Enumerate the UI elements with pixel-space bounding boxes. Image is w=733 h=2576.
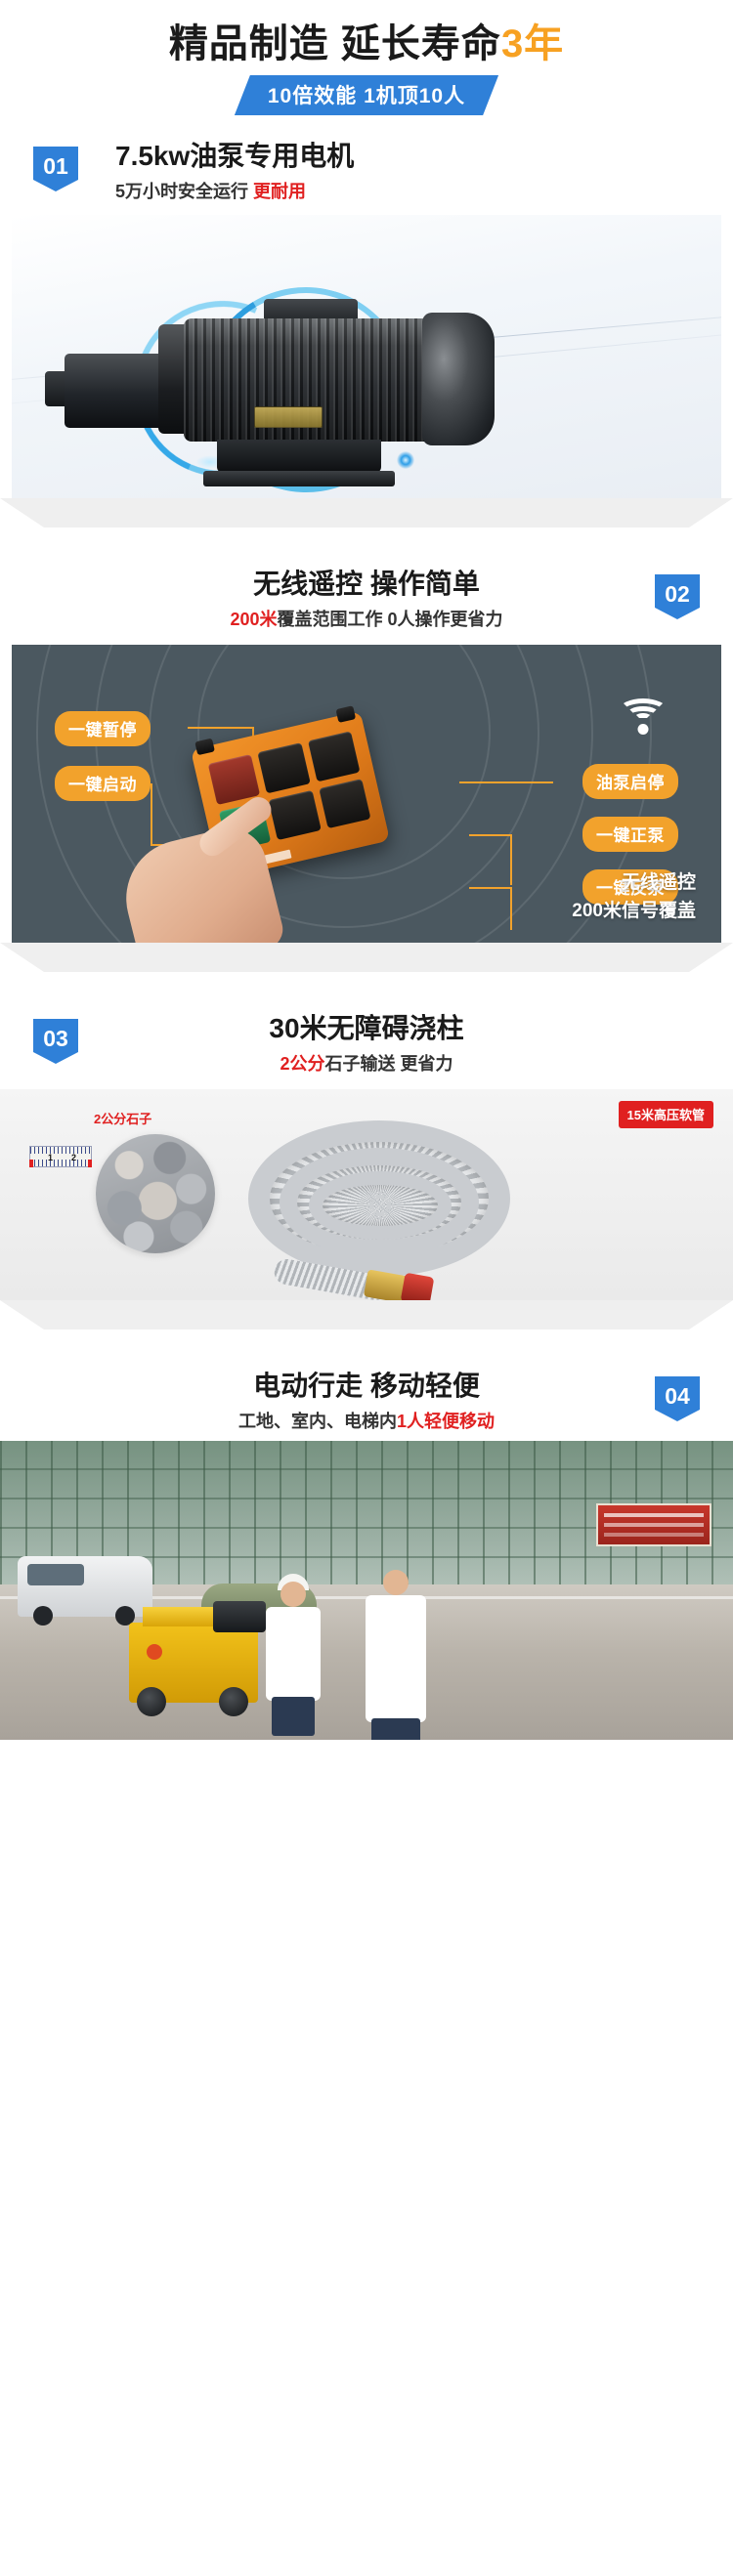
section-03-sub-red: 2公分	[280, 1054, 324, 1074]
ruler-icon: 1 2	[29, 1146, 92, 1167]
worker-standing	[366, 1595, 426, 1722]
callout-lead-4b	[510, 834, 512, 885]
section-01: 01 7.5kw油泵专用电机 5万小时安全运行 更耐用	[0, 125, 733, 528]
ruler-mark-2: 2	[71, 1153, 76, 1162]
callout-lead-3	[459, 781, 553, 783]
wedge-divider-01	[0, 498, 733, 528]
hose-gravel-photo: 2公分石子 15米高压软管 1 2	[0, 1089, 733, 1300]
section-01-head: 01 7.5kw油泵专用电机 5万小时安全运行 更耐用	[0, 125, 733, 211]
section-02-sub-red: 200米	[230, 610, 277, 629]
remote-key-aux-1[interactable]	[308, 731, 361, 781]
hero-banner: 10倍效能 1机顶10人	[235, 75, 498, 115]
screw-icon-left	[194, 739, 215, 756]
callout-lead-2a	[151, 783, 152, 846]
worker-head-1	[280, 1582, 306, 1607]
ruler-cap-right	[88, 1160, 92, 1167]
hero-header: 精品制造 延长寿命3年 10倍效能 1机顶10人	[0, 0, 733, 125]
construction-site-photo	[0, 1441, 733, 1740]
section-01-sub-plain: 5万小时安全运行	[115, 182, 253, 201]
product-detail-page: 精品制造 延长寿命3年 10倍效能 1机顶10人 01 7.5kw油泵专用电机 …	[0, 0, 733, 1740]
section-02-head: 02 无线遥控 操作简单 200米覆盖范围工作 0人操作更省力	[0, 553, 733, 639]
screw-icon-right	[335, 705, 356, 723]
callout-pause: 一键暂停	[55, 711, 151, 746]
concrete-pump-machine	[129, 1623, 258, 1703]
caption-line-2: 200米信号覆盖	[572, 898, 696, 926]
section-03-subtitle: 2公分石子输送 更省力	[0, 1050, 733, 1076]
wedge-divider-02	[0, 943, 733, 972]
section-01-sub-red: 更耐用	[253, 182, 306, 201]
motor-foot	[203, 471, 395, 486]
section-02-subtitle: 200米覆盖范围工作 0人操作更省力	[0, 606, 733, 631]
van-wheel-left	[33, 1606, 53, 1626]
section-04-title: 电动行走 移动轻便	[0, 1369, 733, 1403]
ruler-cap-left	[29, 1160, 33, 1167]
motor-fan-cover	[422, 313, 495, 445]
remote-key-stop[interactable]	[208, 754, 261, 805]
callout-lead-5b	[510, 887, 512, 930]
callout-forward-pump: 一键正泵	[582, 817, 678, 852]
machine-motor-unit	[213, 1601, 266, 1632]
machine-warning-icon	[147, 1644, 162, 1660]
section-04: 04 电动行走 移动轻便 工地、室内、电梯内1人轻便移动	[0, 1355, 733, 1740]
motor-base	[217, 440, 381, 473]
hose-coil	[240, 1115, 534, 1287]
white-van	[18, 1556, 152, 1617]
site-banner	[596, 1503, 711, 1546]
gravel-closeup	[96, 1134, 215, 1253]
page-title-main: 精品制造 延长寿命	[169, 22, 501, 65]
remote-key-forward-pump[interactable]	[269, 789, 322, 840]
section-03-head: 03 30米无障碍浇柱 2公分石子输送 更省力	[0, 997, 733, 1083]
callout-start: 一键启动	[55, 766, 151, 801]
spacer-2	[0, 972, 733, 997]
motor-nameplate	[254, 406, 323, 428]
ruler-ticks-bottom	[30, 1160, 91, 1166]
callout-lead-5a	[469, 887, 512, 889]
machine-wheel-left	[137, 1687, 166, 1716]
section-02-caption: 无线遥控 200米信号覆盖	[572, 869, 696, 925]
section-02: 02 无线遥控 操作简单 200米覆盖范围工作 0人操作更省力	[0, 553, 733, 972]
section-04-subtitle: 工地、室内、电梯内1人轻便移动	[0, 1408, 733, 1433]
section-03-sub-plain: 石子输送 更省力	[325, 1054, 453, 1074]
remote-key-aux-2[interactable]	[319, 779, 371, 829]
worker-head-2	[383, 1570, 409, 1595]
section-02-sub-plain: 覆盖范围工作 0人操作更省力	[278, 610, 503, 629]
section-02-text: 无线遥控 操作简单 200米覆盖范围工作 0人操作更省力	[0, 567, 733, 631]
section-02-title: 无线遥控 操作简单	[0, 567, 733, 601]
section-03: 03 30米无障碍浇柱 2公分石子输送 更省力 2公分石子 15米高压软管 1 …	[0, 997, 733, 1330]
led-glow-icon	[397, 451, 414, 469]
section-04-text: 电动行走 移动轻便 工地、室内、电梯内1人轻便移动	[0, 1369, 733, 1433]
section-03-text: 30米无障碍浇柱 2公分石子输送 更省力	[0, 1011, 733, 1076]
remote-key-pump-start[interactable]	[258, 742, 311, 793]
motor-photo	[12, 215, 721, 498]
section-03-title: 30米无障碍浇柱	[0, 1011, 733, 1045]
hero-banner-wrap: 10倍效能 1机顶10人	[0, 75, 733, 115]
section-01-title: 7.5kw油泵专用电机	[115, 139, 733, 173]
callout-lead-4a	[469, 834, 512, 836]
hose-length-tag: 15米高压软管	[619, 1101, 713, 1128]
hose-end-cap	[401, 1273, 435, 1300]
remote-control-photo: 一键暂停 一键启动 油泵启停 一键正泵 一键反泵 无线遥控 200米信号覆盖	[12, 645, 721, 943]
ruler-ticks-top	[30, 1147, 91, 1154]
section-04-sub-red: 1人轻便移动	[397, 1412, 495, 1431]
worker-legs-2	[371, 1718, 420, 1740]
wedge-divider-03	[0, 1300, 733, 1330]
ruler-mark-1: 1	[48, 1153, 53, 1162]
section-04-sub-plain: 工地、室内、电梯内	[238, 1412, 397, 1431]
callout-lead-1a	[188, 727, 254, 729]
machine-hopper	[143, 1607, 217, 1626]
spacer-3	[0, 1330, 733, 1355]
callout-pump-toggle: 油泵启停	[582, 764, 678, 799]
worker-legs-1	[272, 1697, 315, 1736]
caption-line-1: 无线遥控	[572, 869, 696, 898]
section-01-text: 7.5kw油泵专用电机 5万小时安全运行 更耐用	[0, 139, 733, 203]
gravel-size-tag: 2公分石子	[94, 1109, 151, 1127]
wifi-signal-icon	[616, 684, 670, 735]
spacer-1	[0, 528, 733, 553]
hose-loop-inner	[309, 1171, 452, 1240]
section-04-head: 04 电动行走 移动轻便 工地、室内、电梯内1人轻便移动	[0, 1355, 733, 1441]
page-title-accent: 3年	[501, 22, 564, 65]
page-title: 精品制造 延长寿命3年	[0, 21, 733, 66]
section-01-subtitle: 5万小时安全运行 更耐用	[115, 178, 733, 203]
worker-pushing-machine	[266, 1607, 321, 1701]
machine-wheel-right	[219, 1687, 248, 1716]
